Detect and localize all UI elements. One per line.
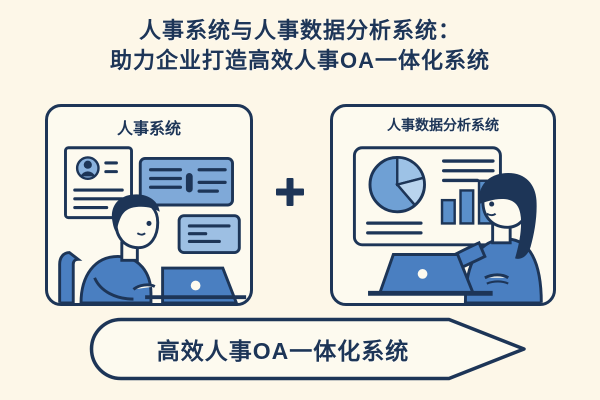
page-title: 人事系统与人事数据分析系统： 助力企业打造高效人事OA一体化系统 [0, 16, 600, 76]
hr-data-analytics-illustration [333, 107, 553, 303]
document-panel-icon-upper [140, 158, 232, 205]
document-panel-icon-lower [179, 216, 239, 253]
card-hr-system-title: 人事系统 [48, 115, 250, 139]
plus-icon [268, 170, 312, 214]
dashboard-screen-icon [354, 148, 500, 245]
card-hr-data-analytics-title: 人事数据分析系统 [333, 115, 553, 135]
page-title-line-2: 助力企业打造高效人事OA一体化系统 [0, 46, 600, 76]
card-hr-system[interactable]: 人事系统 [45, 104, 253, 306]
page-title-line-1: 人事系统与人事数据分析系统： [0, 16, 600, 46]
pie-chart-icon [370, 157, 425, 211]
poster-canvas: 人事系统与人事数据分析系统： 助力企业打造高效人事OA一体化系统 人事系统 [0, 0, 600, 400]
card-hr-data-analytics[interactable]: 人事数据分析系统 [330, 104, 556, 306]
arrow-banner[interactable]: 高效人事OA一体化系统 [88, 316, 528, 382]
plus-connector [268, 170, 312, 214]
arrow-shape-icon [88, 316, 528, 382]
